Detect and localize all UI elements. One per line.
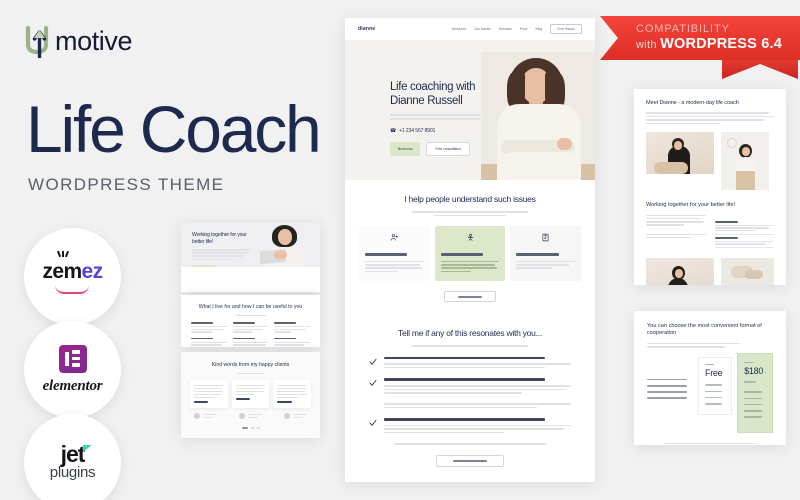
about-right-col: I help people understand such issues [721,258,774,285]
mock-heading: Kind words from my happy clients [190,362,311,369]
list-item [369,418,571,433]
feature-cell [191,338,227,347]
plan-name [705,364,714,366]
about-paragraph [646,112,774,124]
preview-homepage-full[interactable]: dianne About me Our results Services Pri… [345,18,595,482]
hero-secondary-button[interactable]: Free consultation [426,142,469,156]
zemez-sparkle-icon [58,251,67,257]
hero-text: Life coaching with Dianne Russell ☎ +1 2… [390,80,495,156]
feature-grid [191,322,310,347]
mock-body: You can choose the most convenient forma… [634,311,786,445]
testimonial-authors [190,413,311,419]
mock-hero: Working together for your better life! [181,223,320,267]
resonates-lead [412,345,528,347]
preview-about-dianne[interactable]: Meet Dianne - a modern-day life coach [634,89,786,285]
nav-cta-button[interactable]: Free lesson [550,24,582,34]
check-icon [369,358,377,366]
about-col-text [646,215,706,249]
preview-what-i-live-for[interactable]: What I live for and how I can be useful … [181,295,320,347]
photo-hands [721,258,774,285]
mock-body: Kind words from my happy clients [181,352,320,438]
item-paragraph [384,425,571,434]
issue-card-important-decisions[interactable] [510,226,581,281]
nav-item-blog[interactable]: Blog [535,27,542,31]
pricing-plans: Free $180/ session [647,357,773,433]
ribbon-with-label: with [636,39,657,51]
badge-stack: zemez elementor jet plugins [24,228,121,500]
mock-hero-text: Working together for your better life! [192,232,250,267]
book-icon [541,233,550,242]
page-title: Life Coach [26,96,320,162]
mock-heading: What I live for and how I can be useful … [191,304,310,311]
phone-icon: ☎ [390,128,396,134]
feature-cell [274,338,310,347]
about-images [646,132,774,190]
mock-heading: Working together for your better life! [192,232,250,245]
nav-item-price[interactable]: Price [520,27,528,31]
elementor-wordmark: elementor [43,378,103,395]
issues-heading: I help people understand such issues [345,194,595,205]
feature-cell [274,322,310,333]
about-accordion[interactable] [715,215,775,249]
item-title [384,357,545,360]
feature-cell [233,322,269,333]
jet-triangle-icon [83,445,92,452]
logo-wordmark: motive [55,26,132,57]
person-balance-icon [466,233,475,242]
mock-paragraph [192,249,250,260]
zemez-smile-icon [55,285,89,294]
nav-items: About me Our results Services Price Blog… [452,24,582,34]
resonates-section: Tell me if any of this resonates with yo… [345,312,595,481]
hero-paragraph [390,114,495,120]
badge-jetplugins: jet plugins [24,414,121,500]
mock-body: Meet Dianne - a modern-day life coach [634,89,786,285]
plan-price: Free [705,369,725,378]
upmotive-logo: motive [24,24,132,58]
mock-cta-button[interactable] [192,265,216,267]
issues-section: I help people understand such issues [345,180,595,312]
item-paragraph [384,385,571,408]
plan-features [744,391,766,417]
ribbon-tail [722,60,798,79]
resonates-cta-button[interactable] [436,455,504,467]
nav-item-services[interactable]: Services [499,27,512,31]
divider [238,373,264,374]
testimonial-card [273,380,311,408]
ribbon-line-1: COMPATIBILITY [636,23,800,36]
card-paragraph [441,261,500,272]
site-logo[interactable]: dianne [358,26,375,32]
resonates-heading: Tell me if any of this resonates with yo… [345,328,595,339]
resonates-note [394,443,546,445]
card-paragraph [516,261,575,269]
hero-heading: Life coaching with Dianne Russell [390,80,495,108]
pricing-card-consultation[interactable]: $180/ session [737,353,773,433]
check-icon [369,379,377,387]
item-paragraph [384,363,571,368]
ribbon-line-2: with WORDPRESS 6.4 [636,36,800,53]
compatibility-ribbon: COMPATIBILITY with WORDPRESS 6.4 [600,16,800,78]
plugins-wordmark: plugins [50,464,95,481]
issues-cta-button[interactable] [444,291,496,302]
testimonial-card [232,380,270,408]
item-title [384,378,545,381]
preview-working-together[interactable]: Working together for your better life! [181,223,320,292]
about-heading: Meet Dianne - a modern-day life coach [646,100,774,107]
photo-woman-walking [646,258,714,285]
about-two-col [646,215,774,249]
author [239,413,262,419]
hero-primary-button[interactable]: Book now [390,142,420,156]
list-item [369,378,571,408]
hero-phone[interactable]: ☎ +1 234 567 8901 [390,128,495,134]
page-subtitle: WORDPRESS THEME [28,175,224,195]
hero-section: Life coaching with Dianne Russell ☎ +1 2… [345,40,595,180]
photo-woman-standing [721,132,769,190]
plan-price: $180/ session [744,367,766,385]
pricing-note [664,443,756,445]
card-paragraph [365,261,424,272]
ribbon-wordpress-version: WORDPRESS 6.4 [660,36,782,52]
resonates-list [369,357,571,433]
plan-name [744,362,754,364]
mock-body: What I live for and how I can be useful … [181,295,320,347]
site-navbar: dianne About me Our results Services Pri… [345,18,595,40]
hero-photo-woman [481,52,595,180]
testimonial-cards [190,380,311,408]
card-title [516,253,558,255]
phone-number: +1 234 567 8901 [399,128,435,134]
accordion-item[interactable] [715,235,775,249]
elementor-logo-icon [59,345,87,373]
feature-cell [191,322,227,333]
author [194,413,217,419]
clock-icon [727,138,737,148]
pricing-card-free[interactable]: Free [698,357,732,415]
zemez-wordmark: zemez [42,260,102,284]
pricing-heading: You can choose the most convenient forma… [647,323,773,338]
badge-elementor: elementor [24,321,121,418]
card-title [365,253,407,255]
ribbon-body: COMPATIBILITY with WORDPRESS 6.4 [600,16,800,60]
issue-card-career-mentoring[interactable] [359,226,430,281]
hero-buttons: Book now Free consultation [390,142,495,156]
issues-lead [412,211,528,217]
card-title [441,253,483,255]
about-heading-2: Working together for your better life! [646,202,774,209]
mock-photo-woman-laptop [260,223,316,267]
pricing-paragraph [647,343,740,348]
about-images-2: I help people understand such issues [646,258,774,285]
list-item [369,357,571,369]
divider [236,315,266,316]
up-arrow-icon [24,24,54,58]
photo-woman-sitting [646,132,714,174]
pricing-feature-labels [647,357,693,399]
check-icon [369,419,377,427]
feature-cell [233,338,269,347]
person-plus-icon [390,233,399,242]
author [284,413,307,419]
poster-canvas: motive Life Coach WORDPRESS THEME zemez … [0,0,800,500]
testimonial-card [190,380,228,408]
zemez-logo: zemez [42,260,102,294]
carousel-dots[interactable] [190,427,311,429]
nav-item-results[interactable]: Our results [474,27,491,31]
item-title [384,418,545,421]
badge-zemez: zemez [24,228,121,325]
nav-item-about[interactable]: About me [452,27,467,31]
preview-pricing[interactable]: You can choose the most convenient forma… [634,311,786,445]
issues-cards [359,226,581,281]
jet-wordmark: jet [61,444,85,466]
plan-features [705,384,725,404]
preview-testimonials[interactable]: Kind words from my happy clients [181,352,320,438]
accordion-item[interactable] [715,219,775,235]
issue-card-work-life-balance[interactable] [435,226,506,281]
